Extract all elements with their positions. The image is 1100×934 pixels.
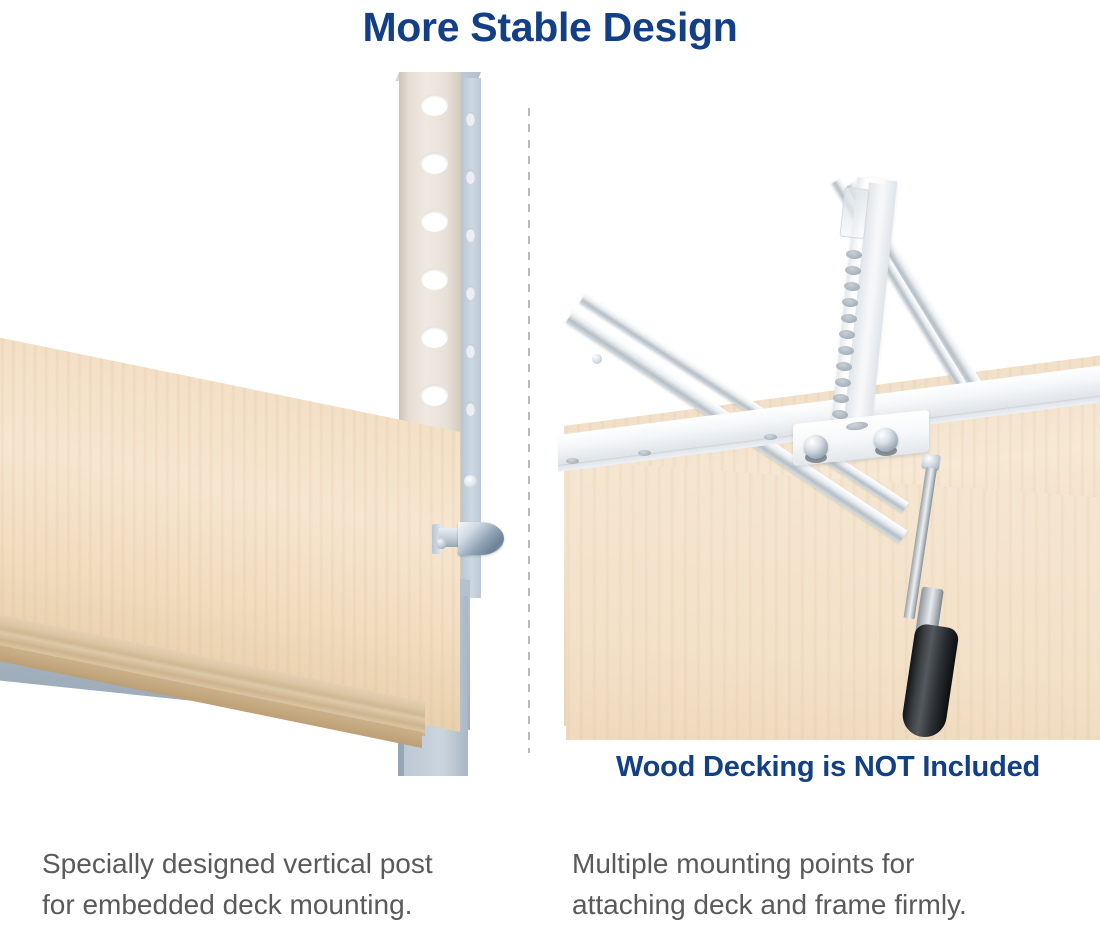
rail-hole bbox=[566, 458, 579, 464]
rail-hole bbox=[638, 450, 651, 456]
post-slot bbox=[421, 326, 448, 348]
pine-decking-lower bbox=[566, 460, 1100, 740]
flange-bolt bbox=[874, 428, 898, 452]
post-slot bbox=[421, 94, 448, 116]
post-slot bbox=[421, 268, 448, 290]
flange-bolt bbox=[804, 435, 828, 459]
brace-screw bbox=[592, 354, 602, 364]
right-caption-line-1: Multiple mounting points for bbox=[572, 843, 1072, 884]
right-caption-line-2: attaching deck and frame firmly. bbox=[572, 884, 1072, 925]
left-caption-line-2: for embedded deck mounting. bbox=[42, 884, 537, 925]
left-caption: Specially designed vertical post for emb… bbox=[42, 843, 537, 925]
post-side-slot bbox=[466, 112, 475, 126]
right-product-photo bbox=[556, 60, 1100, 740]
post-slot bbox=[421, 210, 448, 232]
left-caption-line-1: Specially designed vertical post bbox=[42, 843, 537, 884]
wood-decking-notice: Wood Decking is NOT Included bbox=[556, 748, 1100, 786]
upright-bracket-emboss bbox=[839, 187, 869, 239]
left-product-photo bbox=[0, 60, 522, 820]
post-side-slot bbox=[466, 402, 475, 416]
vertical-post-side bbox=[461, 78, 481, 598]
post-side-slot bbox=[466, 286, 475, 300]
post-slot bbox=[421, 152, 448, 174]
post-rivet bbox=[464, 475, 477, 488]
post-slot bbox=[421, 384, 448, 406]
post-side-slot bbox=[466, 170, 475, 184]
product-feature-card: More Stable Design bbox=[0, 0, 1100, 934]
post-side-slot bbox=[466, 344, 475, 358]
right-caption: Multiple mounting points for attaching d… bbox=[572, 843, 1072, 925]
rail-hole bbox=[764, 434, 777, 440]
vertical-divider bbox=[528, 108, 530, 753]
page-title: More Stable Design bbox=[0, 2, 1100, 52]
bolt-screw-head bbox=[436, 538, 447, 549]
chrome-bolt-icon bbox=[458, 522, 504, 555]
post-side-slot bbox=[466, 228, 475, 242]
